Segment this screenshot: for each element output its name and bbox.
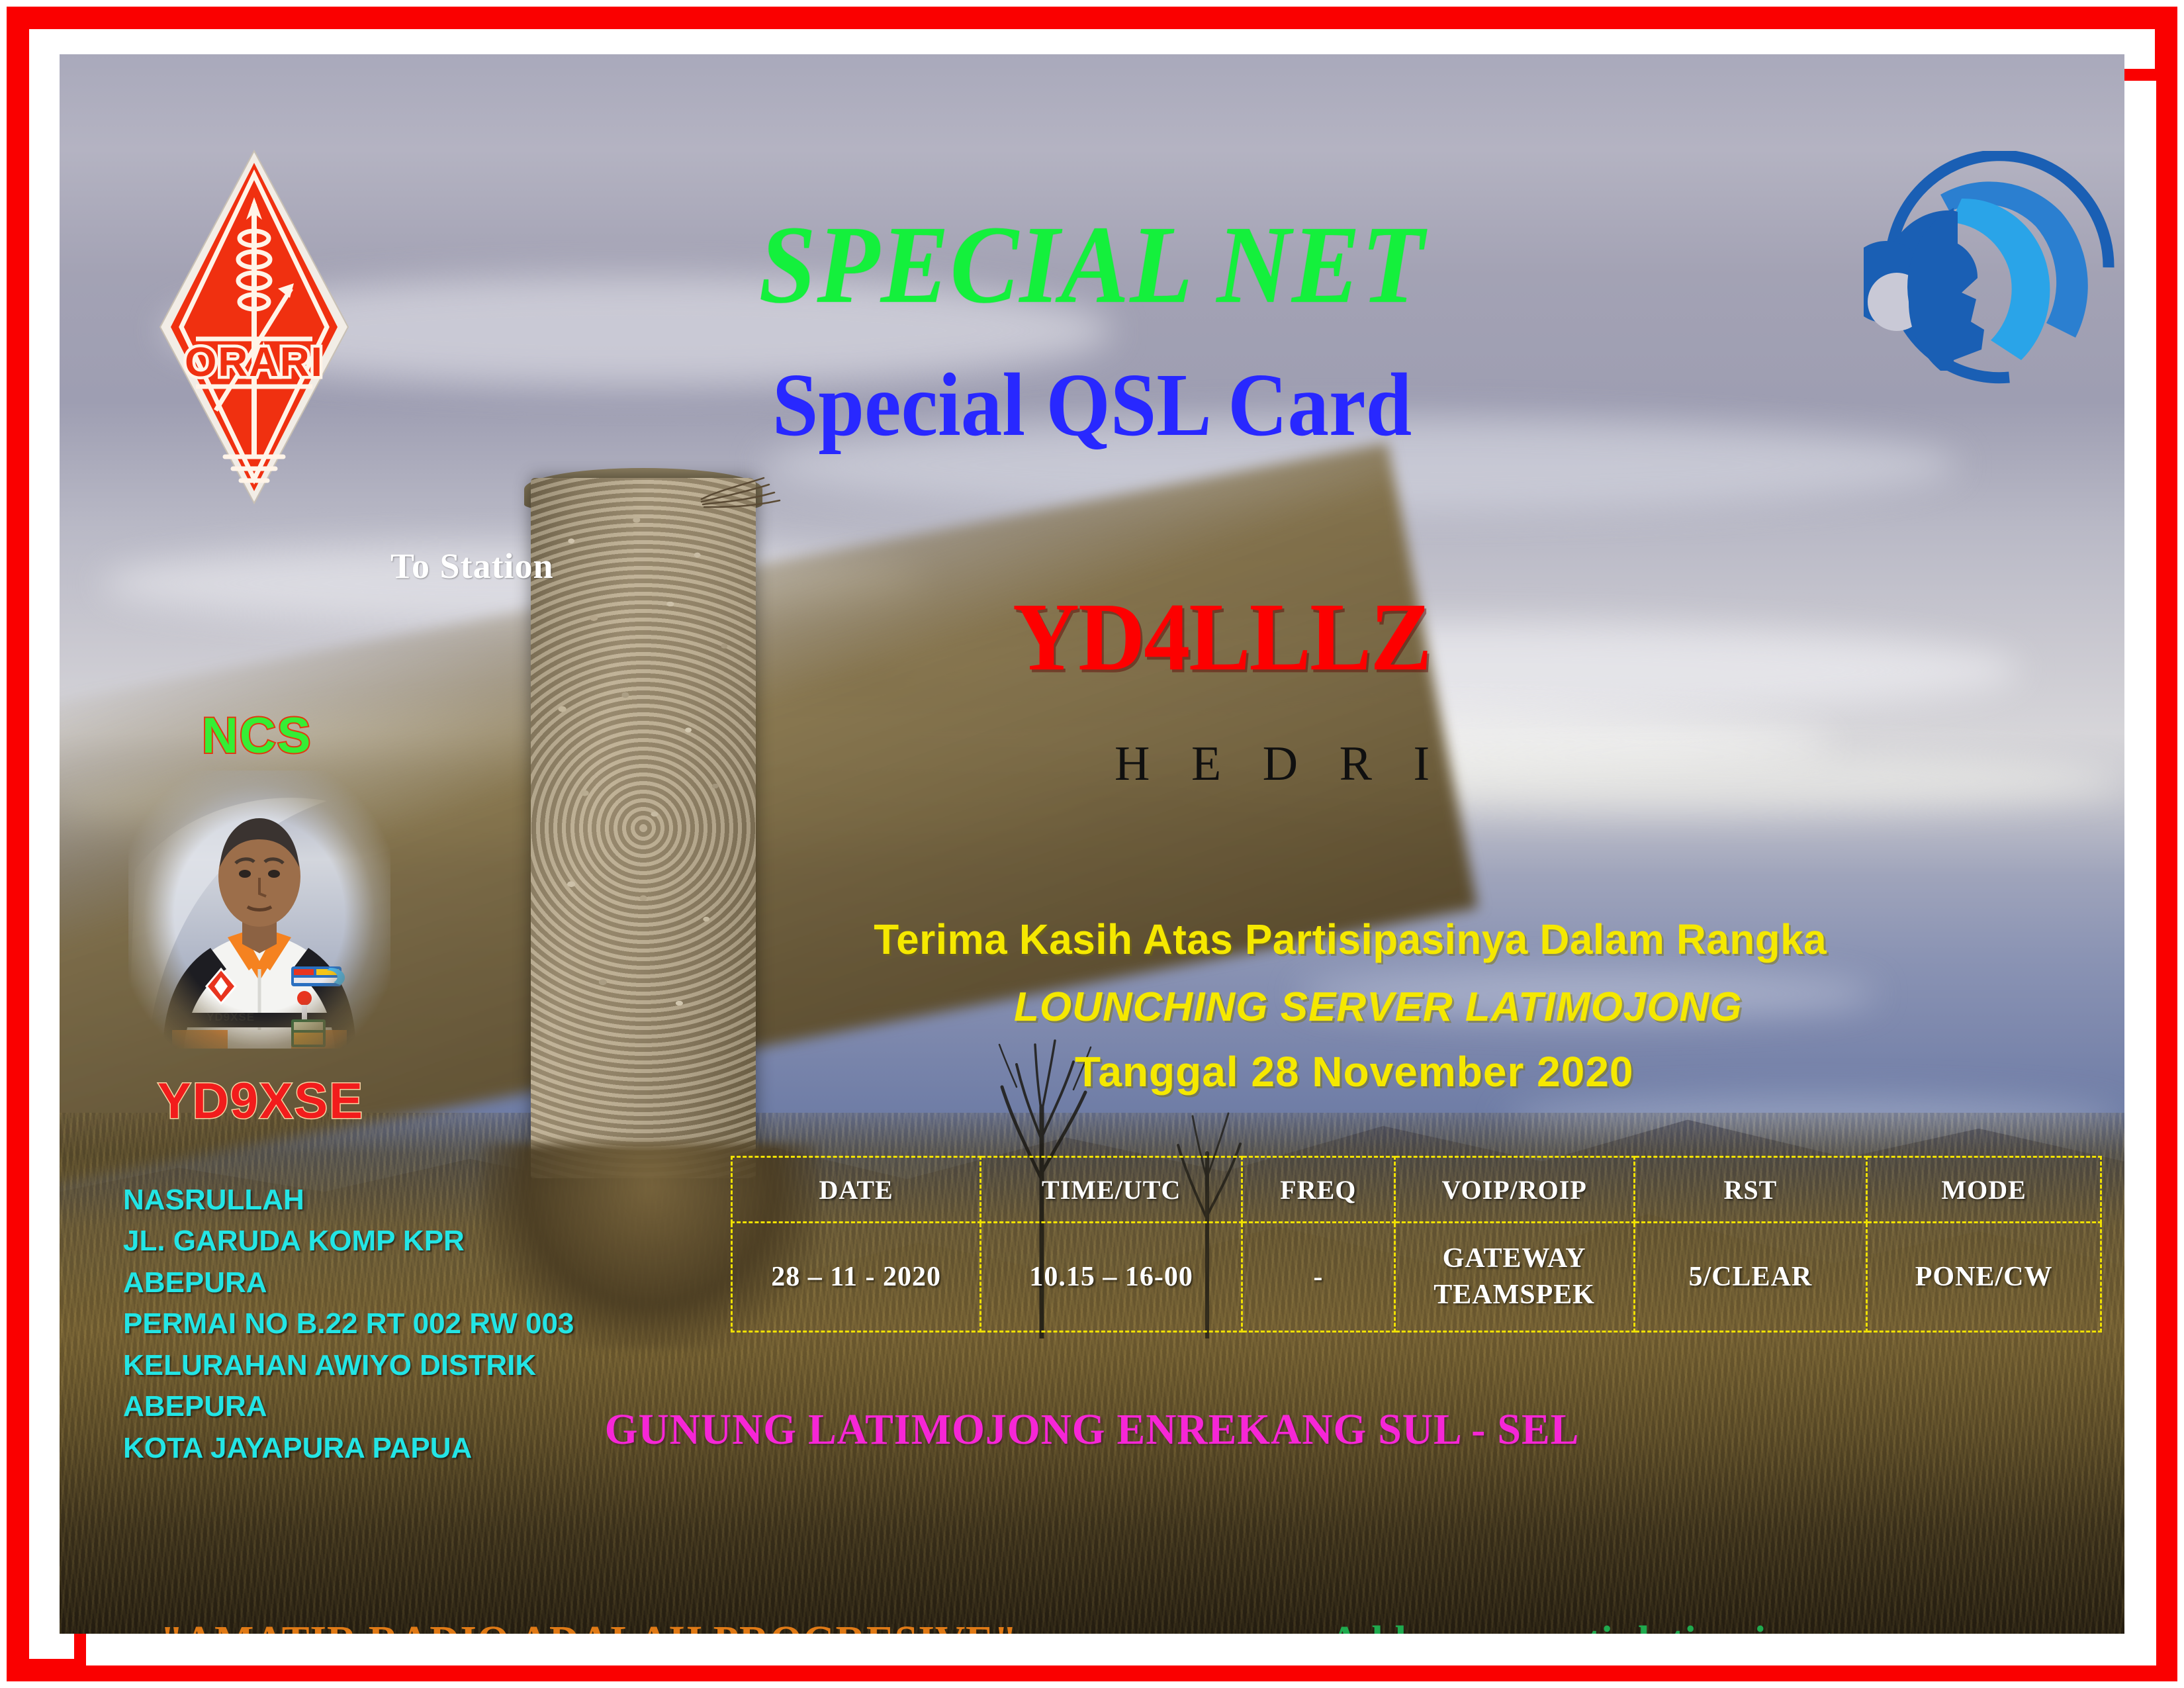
table-row: 28 – 11 - 2020 10.15 – 16-00 - GATEWAY T… xyxy=(732,1223,2101,1332)
recipient-callsign: YD4LLLZ xyxy=(1013,581,1431,693)
page-title: SPECIAL NET xyxy=(142,201,2042,329)
column-header-date: DATE xyxy=(732,1157,981,1223)
address-line: JL. GARUDA KOMP KPR xyxy=(123,1221,574,1262)
twig-icon xyxy=(700,473,786,512)
ncs-label: NCS xyxy=(202,707,312,765)
thanks-line-3: Tanggal 28 November 2020 xyxy=(1075,1047,1634,1096)
ncs-callsign: YD9XSE xyxy=(158,1072,364,1130)
column-header-voip: VOIP/ROIP xyxy=(1394,1157,1634,1223)
address-line: KELURAHAN AWIYO DISTRIK xyxy=(123,1345,574,1386)
website-address: Address : amatir.latimojong.com xyxy=(1329,1617,1916,1634)
qso-details-table: DATE TIME/UTC FREQ VOIP/ROIP RST MODE 28… xyxy=(731,1156,2102,1333)
ncs-operator-photo: YD9XSE xyxy=(128,771,390,1049)
table-header-row: DATE TIME/UTC FREQ VOIP/ROIP RST MODE xyxy=(732,1157,2101,1223)
column-header-freq: FREQ xyxy=(1242,1157,1395,1223)
column-header-time: TIME/UTC xyxy=(981,1157,1242,1223)
thanks-line-2: LOUNCHING SERVER LATIMOJONG xyxy=(1014,984,1743,1031)
operator-name: H E D R I xyxy=(1115,736,1444,792)
page-subtitle: Special QSL Card xyxy=(142,353,2042,457)
column-header-mode: MODE xyxy=(1867,1157,2101,1223)
cell-time: 10.15 – 16-00 xyxy=(981,1223,1242,1332)
event-location: GUNUNG LATIMOJONG ENREKANG SUL - SEL xyxy=(91,1405,2093,1455)
cairn-body xyxy=(531,478,756,1178)
thanks-line-1: Terima Kasih Atas Partisipasinya Dalam R… xyxy=(874,915,1827,964)
cell-date: 28 – 11 - 2020 xyxy=(732,1223,981,1332)
club-motto: "AMATIR RADIO ADALAH PROGRESIVE" xyxy=(160,1617,1017,1634)
qsl-card: ORARI xyxy=(0,0,2184,1688)
column-header-rst: RST xyxy=(1634,1157,1867,1223)
address-line: PERMAI NO B.22 RT 002 RW 003 xyxy=(123,1303,574,1344)
cell-voip: GATEWAY TEAMSPEK xyxy=(1394,1223,1634,1332)
svg-text:YD9XSE: YD9XSE xyxy=(206,1011,255,1023)
cell-rst: 5/CLEAR xyxy=(1634,1223,1867,1332)
address-line: NASRULLAH xyxy=(123,1180,574,1221)
background-photo: ORARI xyxy=(60,54,2124,1634)
to-station-label: To Station xyxy=(390,545,554,586)
cell-mode: PONE/CW xyxy=(1867,1223,2101,1332)
cell-freq: - xyxy=(1242,1223,1395,1332)
address-line: ABEPURA xyxy=(123,1262,574,1303)
